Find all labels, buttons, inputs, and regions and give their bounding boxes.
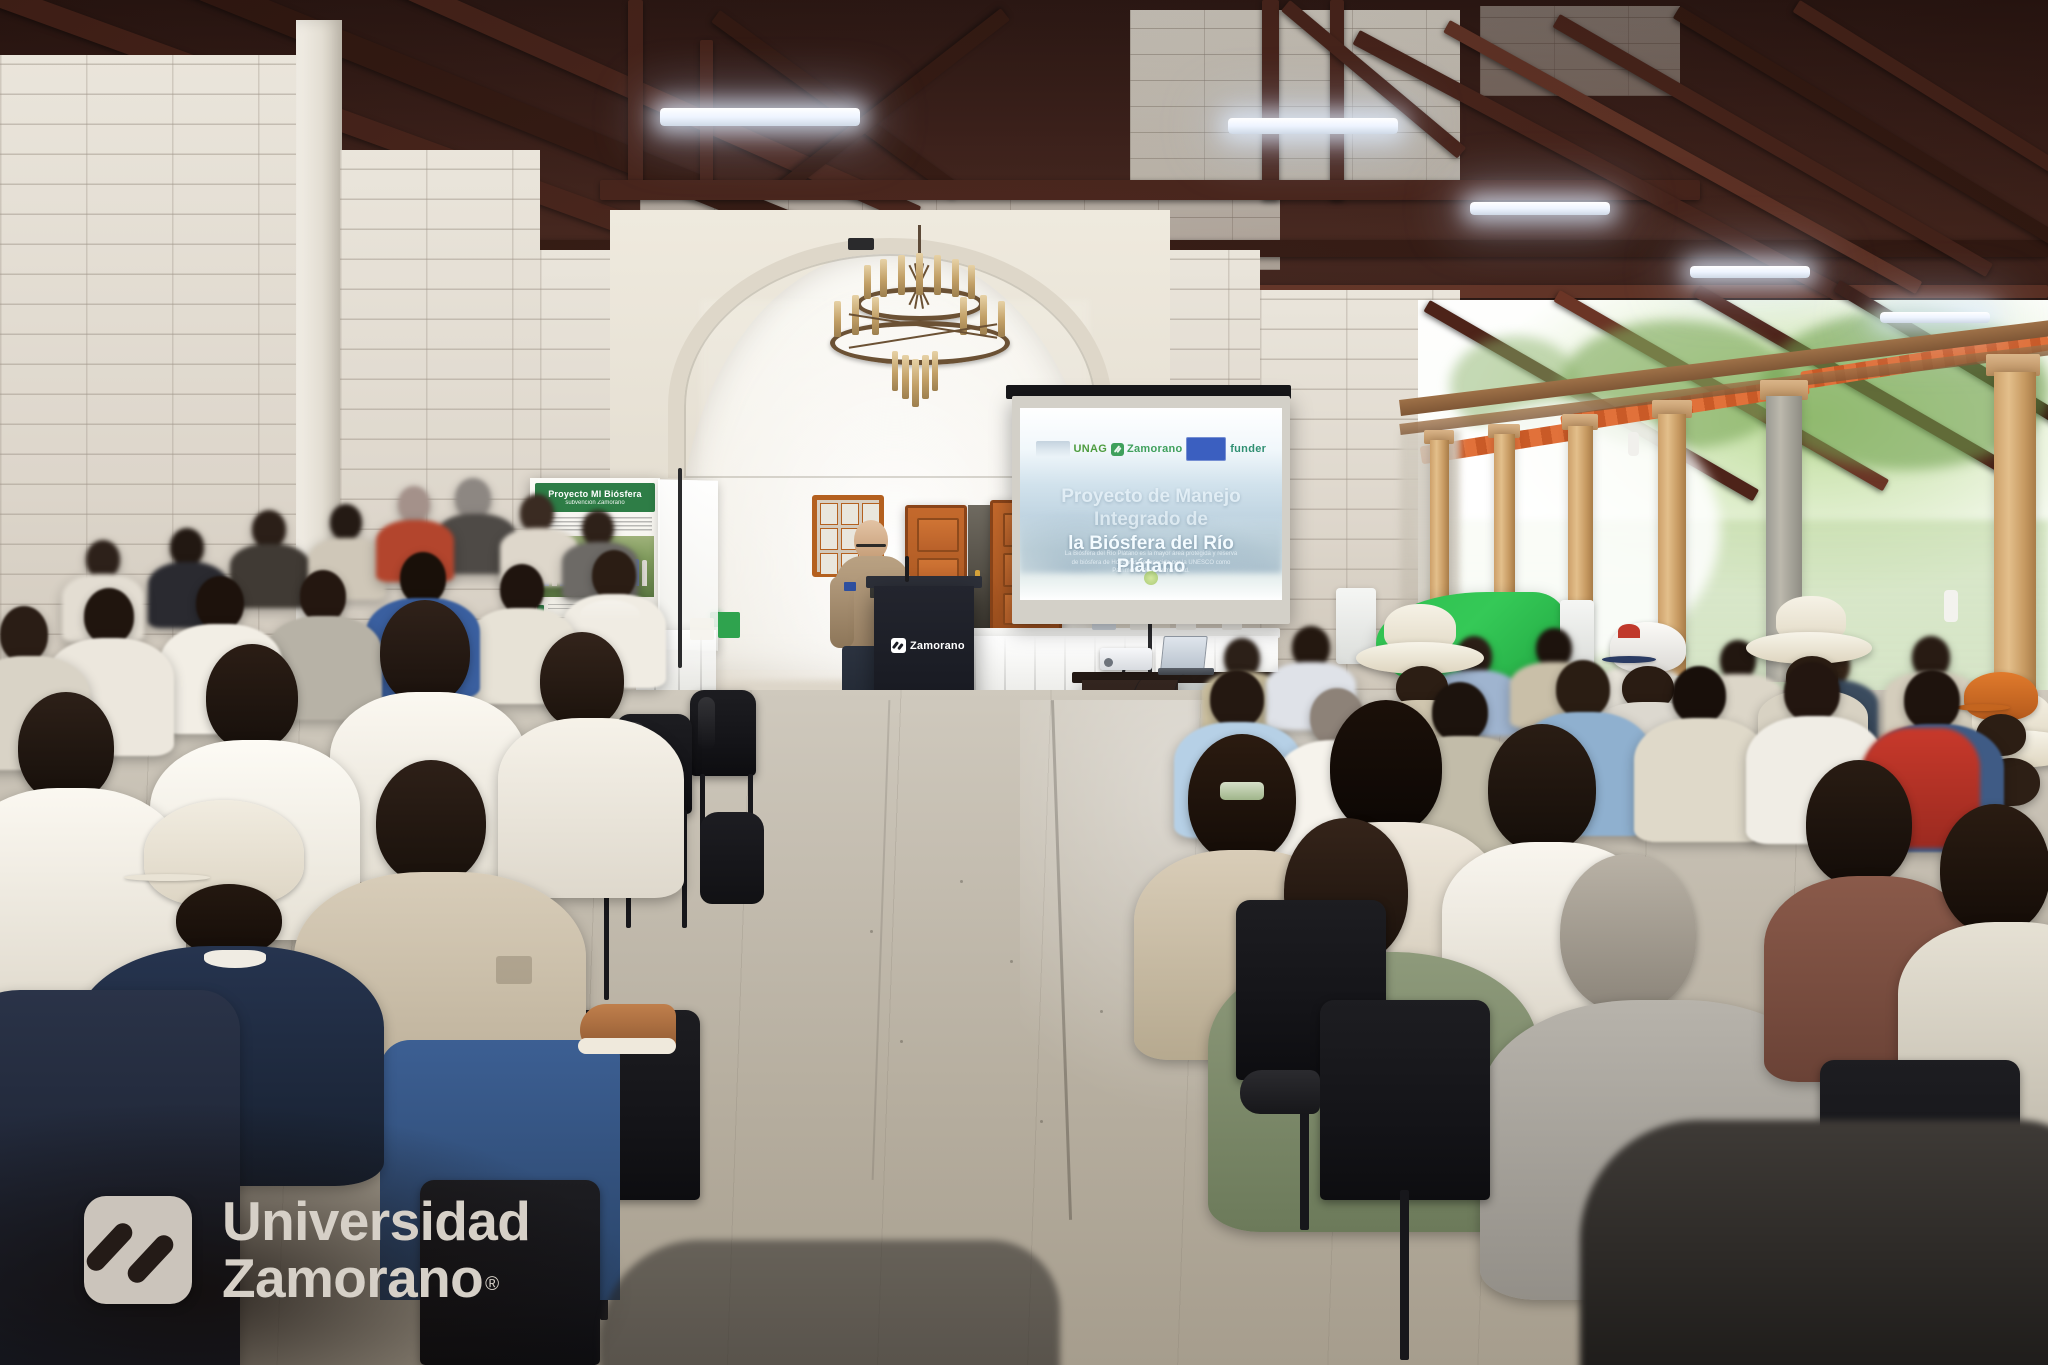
registered-trademark-icon: ® <box>485 1274 499 1295</box>
speaker-head <box>854 520 888 560</box>
rafter <box>1793 0 2048 234</box>
person-torso <box>0 990 240 1365</box>
speaker-glasses-icon <box>856 544 886 547</box>
podium-microphone <box>905 556 909 582</box>
ceiling-light <box>1228 118 1398 134</box>
speaker-badge <box>844 582 856 591</box>
zamorano-logo-text: Zamorano <box>1127 443 1183 455</box>
table-sign-green <box>718 612 740 638</box>
zamorano-brand-logo: Universidad Zamorano® <box>84 1193 530 1307</box>
zamorano-z-mark-icon <box>84 1196 192 1304</box>
shirt-collar <box>204 950 266 968</box>
shoe <box>1240 1070 1320 1114</box>
person-head <box>1560 854 1696 1012</box>
projector-lens-icon <box>1104 658 1113 667</box>
slide-title-line1: Proyecto de Manejo Integrado de <box>1033 485 1269 532</box>
shoe-sole <box>578 1038 676 1054</box>
person-head <box>1940 804 2048 934</box>
rafter <box>1553 14 1994 277</box>
ceiling-light <box>1690 266 1810 278</box>
ceiling-light <box>1470 202 1610 215</box>
person-head <box>206 644 298 750</box>
person-head <box>1806 760 1912 886</box>
chair[interactable] <box>1320 1000 1490 1200</box>
foreground-silhouette <box>600 1240 1060 1365</box>
truss-post <box>628 0 643 190</box>
podium-zamorano-logo: Zamorano <box>891 638 965 653</box>
person-head <box>1488 724 1596 852</box>
cap-brim-icon <box>124 874 210 881</box>
brand-line-2: Zamorano <box>222 1250 483 1307</box>
foreground-silhouette <box>1580 1120 2048 1365</box>
tie-beam <box>600 180 1700 200</box>
person-head <box>540 632 624 728</box>
truss-diagonal <box>772 8 1010 198</box>
truss-post <box>1330 0 1344 200</box>
eu-flag-logo-icon <box>1186 437 1226 461</box>
truss-post <box>1262 0 1279 200</box>
zamorano-z-mark-icon <box>891 638 906 653</box>
brand-wordmark: Universidad Zamorano® <box>222 1193 530 1307</box>
person-front-left-edge <box>0 990 240 1365</box>
gable-brick-panel <box>1130 10 1460 185</box>
ceiling-light <box>1880 312 1990 323</box>
cap-red-accent-icon <box>1618 624 1640 638</box>
chair-leg <box>1400 1190 1409 1360</box>
zamorano-z-mark-icon <box>1111 443 1124 456</box>
person-head <box>380 600 470 704</box>
backpack <box>700 812 764 904</box>
photograph: Proyecto MI Biósfera subvención Zamorano <box>0 0 2048 1365</box>
zamorano-logo: Zamorano <box>1111 443 1183 456</box>
unag-logo: UNAG <box>1074 443 1108 455</box>
chandelier <box>820 225 1020 415</box>
person-head <box>1330 700 1442 834</box>
wall-light-fixture <box>1628 432 1639 456</box>
hair-clip <box>1220 782 1264 800</box>
podium-logo-text: Zamorano <box>910 640 965 652</box>
slide-logo-row: UNAG Zamorano funder <box>1036 435 1267 464</box>
brand-line-1: Universidad <box>222 1193 530 1250</box>
projection-screen: UNAG Zamorano funder Proyecto de Manejo … <box>1020 408 1282 600</box>
shirt-pocket <box>496 956 532 984</box>
person-head <box>18 692 114 802</box>
partner-logo-left-icon <box>1036 441 1070 457</box>
funder-logo: funder <box>1230 443 1266 455</box>
ceiling-light <box>660 108 860 126</box>
